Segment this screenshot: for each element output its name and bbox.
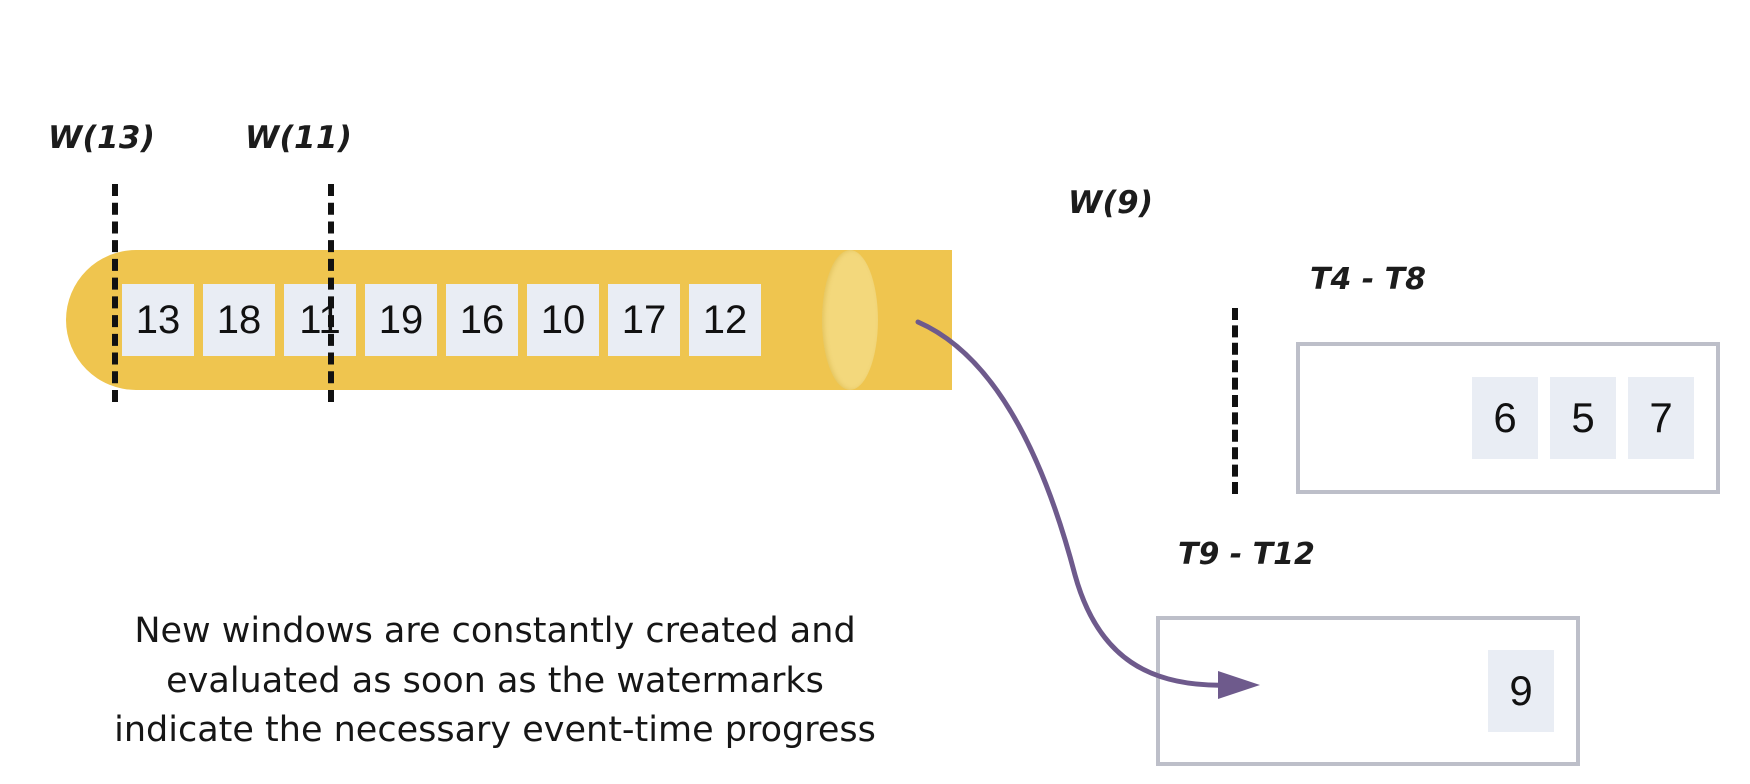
watermark-line-w13	[112, 184, 118, 402]
watermark-label-w13: W(13)	[48, 120, 155, 156]
window-box-t4-t8: 6 5 7	[1296, 342, 1720, 494]
window-event-cell: 9	[1488, 650, 1554, 732]
window-label-t9-t12: T9 - T12	[1178, 537, 1315, 572]
window-event-cell: 7	[1628, 377, 1694, 459]
stream-event-cell: 19	[365, 284, 437, 356]
window-box-t9-t12: 9	[1156, 616, 1580, 766]
stream-event-cell: 18	[203, 284, 275, 356]
watermark-line-w9	[1232, 308, 1238, 494]
window-label-t4-t8: T4 - T8	[1310, 262, 1426, 297]
stream-event-cell: 16	[446, 284, 518, 356]
stream-event-cell: 11	[284, 284, 356, 356]
stream-event-cell: 12	[689, 284, 761, 356]
window-event-cell: 6	[1472, 377, 1538, 459]
window-event-cell: 5	[1550, 377, 1616, 459]
stream-event-cell: 10	[527, 284, 599, 356]
watermark-label-w11: W(11)	[245, 120, 352, 156]
diagram-canvas: W(13) W(11) W(9) 13 18 11 19 16 10 17 12…	[0, 0, 1750, 784]
caption-text: New windows are constantly created and e…	[90, 607, 900, 756]
watermark-line-w11	[328, 184, 334, 402]
caption-line-2: evaluated as soon as the watermarks	[90, 657, 900, 707]
caption-line-3: indicate the necessary event-time progre…	[90, 706, 900, 756]
watermark-label-w9: W(9)	[1068, 185, 1153, 221]
pipe-end-cap-icon	[822, 250, 878, 390]
caption-line-1: New windows are constantly created and	[90, 607, 900, 657]
stream-event-cell: 13	[122, 284, 194, 356]
stream-event-list: 13 18 11 19 16 10 17 12	[122, 254, 761, 386]
stream-event-cell: 17	[608, 284, 680, 356]
